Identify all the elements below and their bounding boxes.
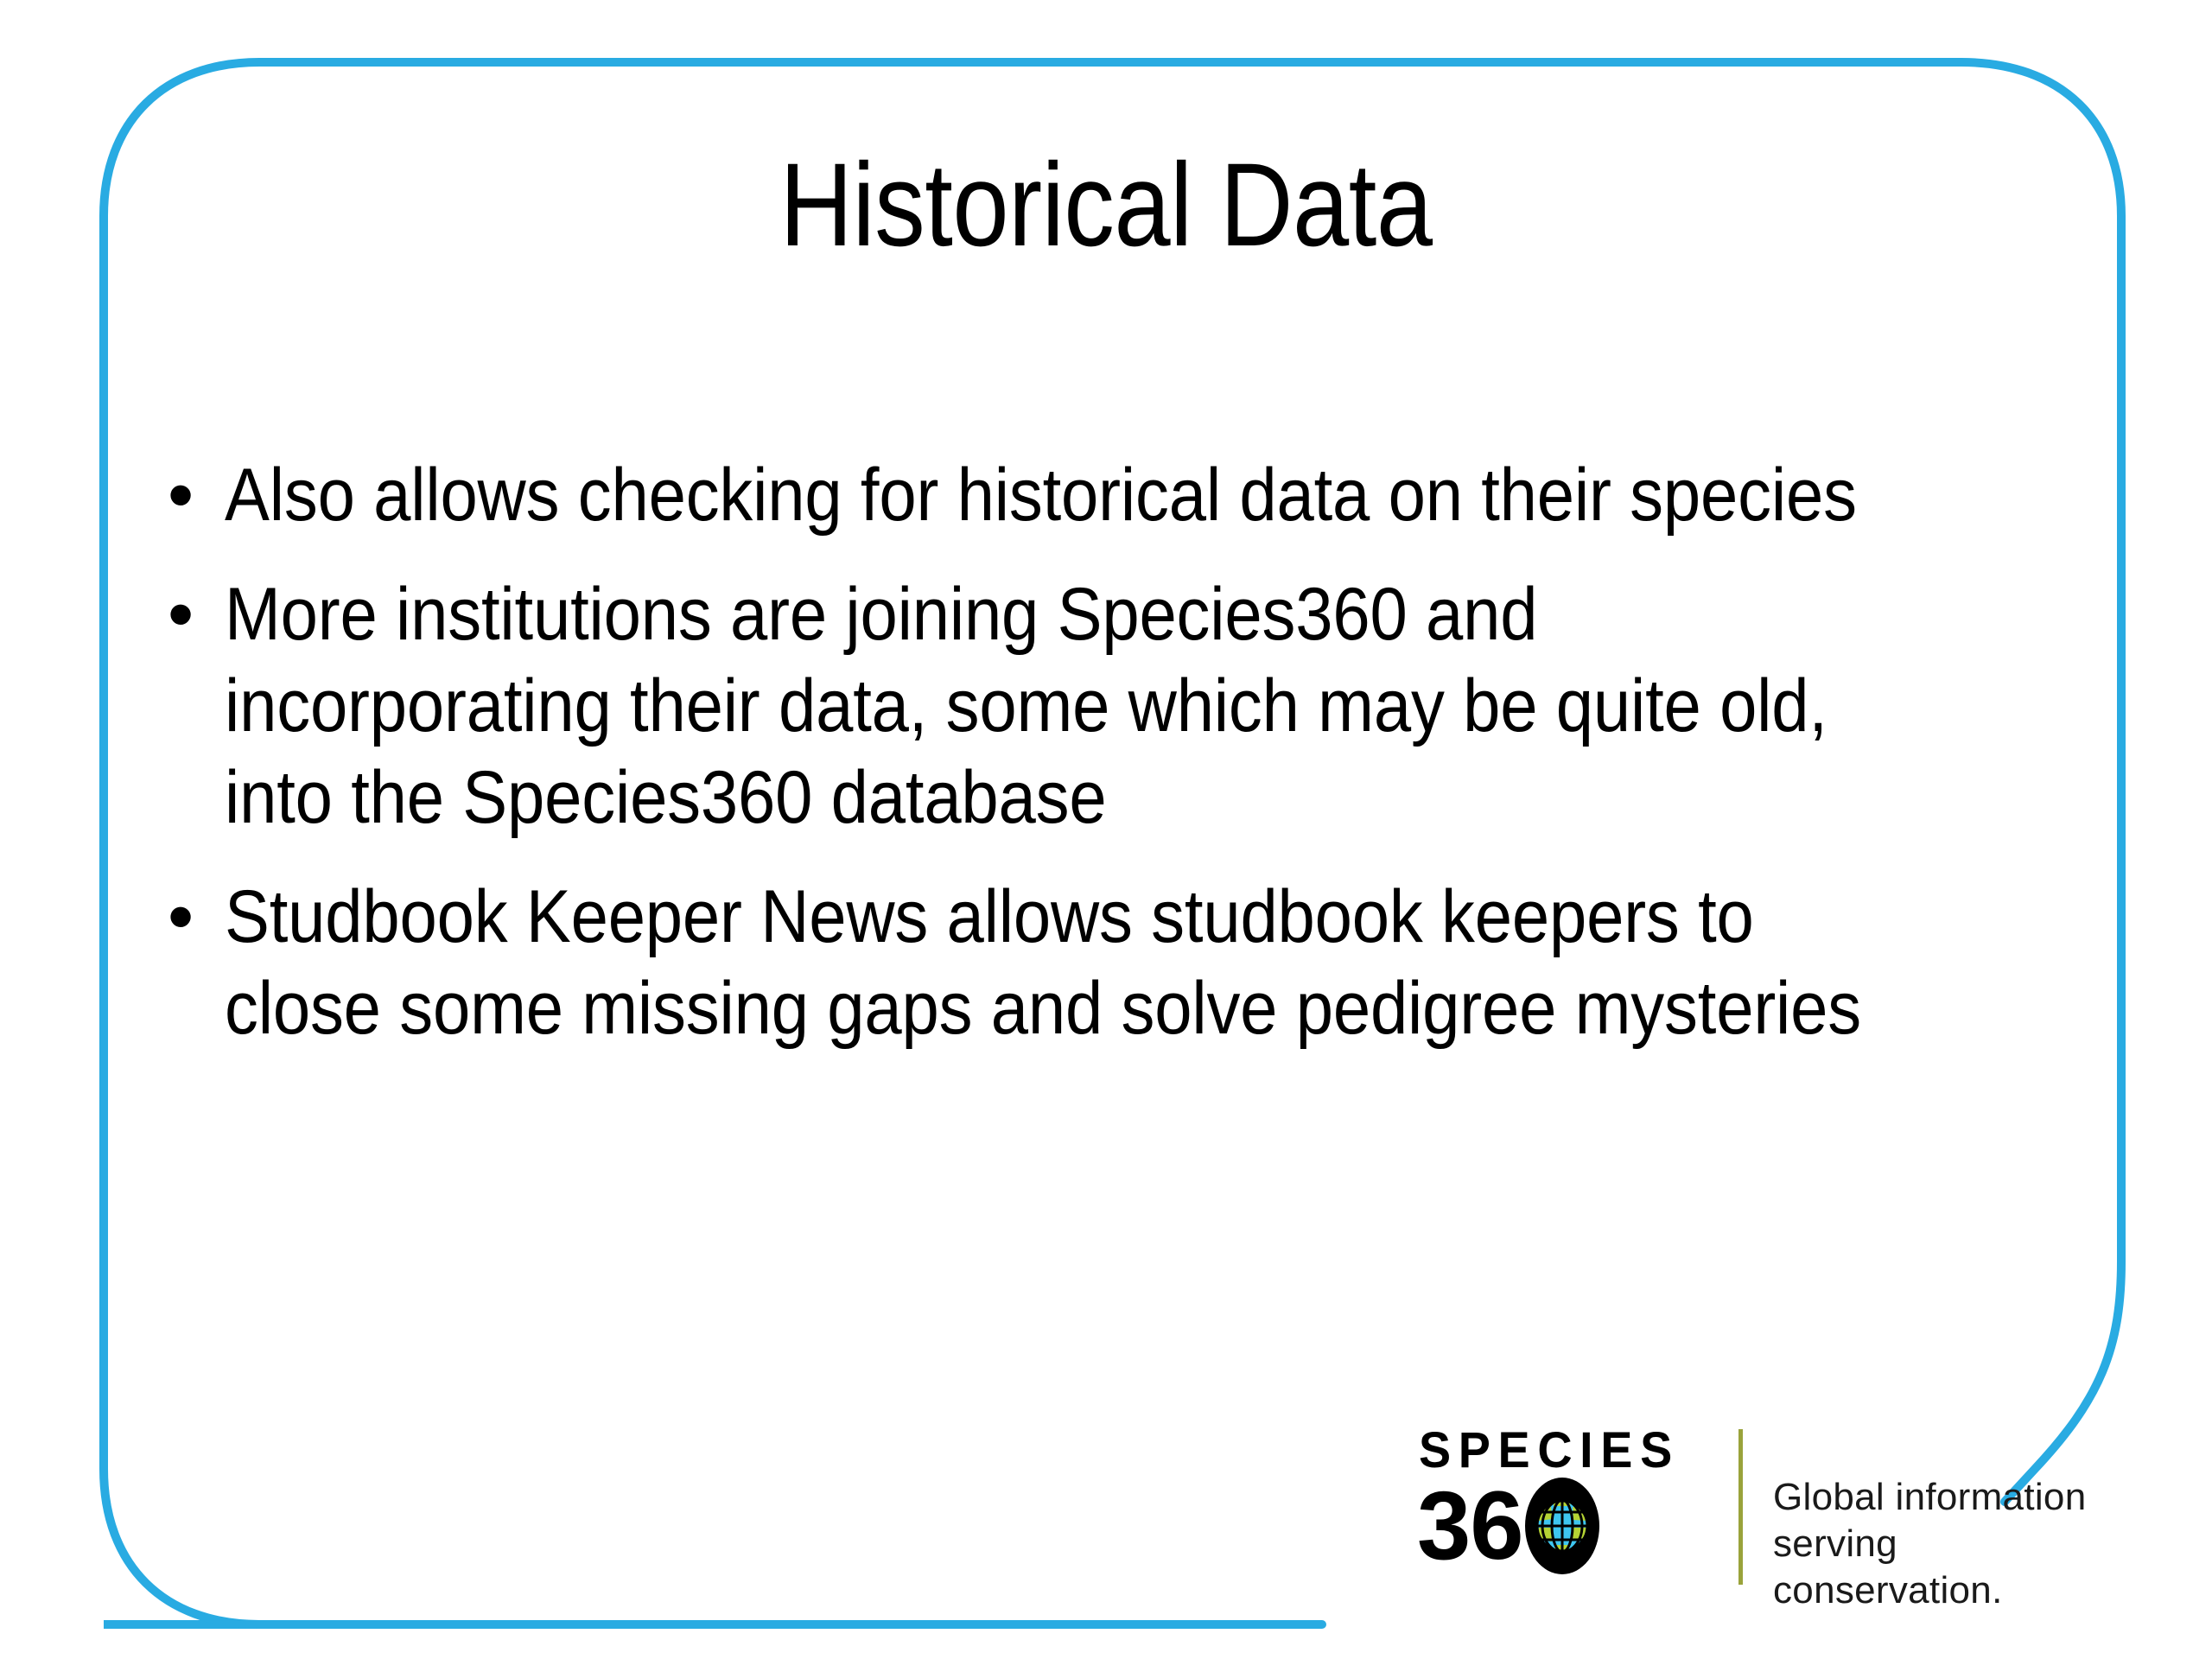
- list-item: • More institutions are joining Species3…: [157, 569, 2041, 843]
- bullet-marker-icon: •: [157, 569, 225, 660]
- species360-logo: SPECIES 36: [1417, 1424, 2108, 1588]
- bullet-text: More institutions are joining Species360…: [225, 569, 1868, 843]
- logo-divider: [1738, 1429, 1743, 1585]
- logo-360-row: 36: [1417, 1478, 1599, 1574]
- logo-36-text: 36: [1417, 1478, 1523, 1574]
- bullet-marker-icon: •: [157, 871, 225, 963]
- bullet-text: Also allows checking for historical data…: [225, 449, 1868, 541]
- globe-icon: [1525, 1478, 1599, 1574]
- page-title: Historical Data: [161, 145, 2052, 266]
- bullet-list: • Also allows checking for historical da…: [157, 449, 2041, 1054]
- bullet-marker-icon: •: [157, 449, 225, 541]
- logo-tagline: Global information serving conservation.: [1773, 1474, 2108, 1614]
- slide-canvas: Historical Data • Also allows checking f…: [0, 0, 2212, 1659]
- list-item: • Studbook Keeper News allows studbook k…: [157, 871, 2041, 1054]
- logo-species-text: SPECIES: [1419, 1426, 1680, 1476]
- list-item: • Also allows checking for historical da…: [157, 449, 2041, 541]
- bullet-text: Studbook Keeper News allows studbook kee…: [225, 871, 1868, 1054]
- logo-wordmark: SPECIES 36: [1417, 1424, 1702, 1588]
